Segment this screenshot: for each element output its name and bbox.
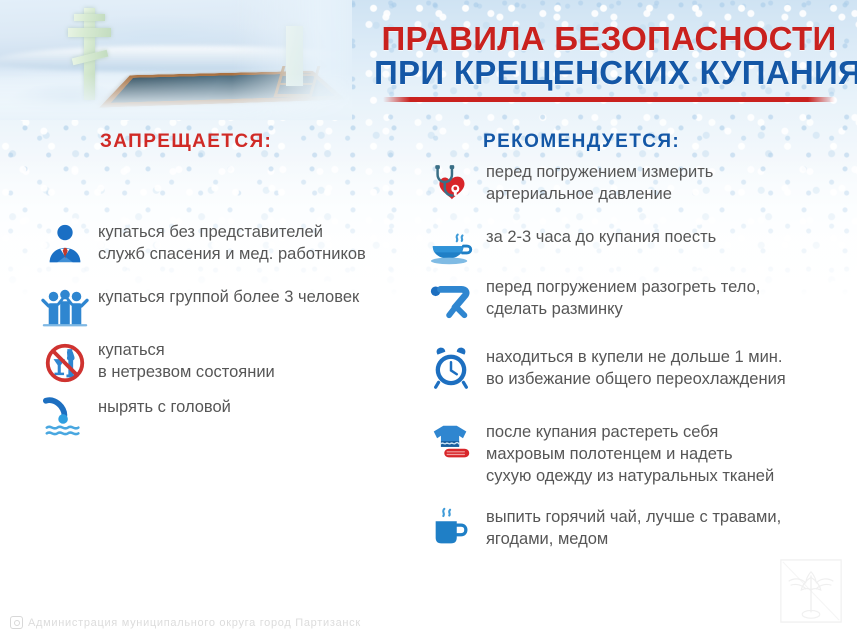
instagram-icon	[10, 616, 23, 629]
ice-hole-photo	[0, 0, 352, 120]
photo-fade-bottom	[0, 74, 352, 120]
no-alcohol-icon	[42, 340, 88, 386]
list-item: за 2-3 часа до купания поесть	[428, 225, 848, 271]
list-item: находиться в купели не дольше 1 мин. во …	[428, 345, 848, 391]
stretching-person-icon	[428, 275, 474, 321]
list-item-text: перед погружением измерить артериальное …	[486, 160, 713, 206]
list-item: купаться в нетрезвом состоянии	[42, 340, 412, 386]
list-item-text: выпить горячий чай, лучше с травами, яго…	[486, 505, 781, 551]
footer: Администрация муниципального округа горо…	[10, 616, 361, 629]
stethoscope-heart-icon	[428, 160, 474, 206]
diver-headfirst-icon	[42, 395, 88, 441]
list-item: после купания растереть себя махровым по…	[428, 420, 848, 488]
list-item-text: купаться без представителей служб спасен…	[98, 222, 366, 266]
poster-title: ПРАВИЛА БЕЗОПАСНОСТИ ПРИ КРЕЩЕНСКИХ КУПА…	[374, 22, 844, 102]
list-item-text: перед погружением разогреть тело, сделат…	[486, 275, 760, 321]
list-item: перед погружением измерить артериальное …	[428, 160, 848, 206]
list-item-text: нырять с головой	[98, 395, 231, 419]
list-item-text: купаться группой более 3 человек	[98, 285, 359, 309]
list-item-text: находиться в купели не дольше 1 мин. во …	[486, 345, 786, 391]
group-of-three-people-icon	[42, 285, 88, 331]
soup-bowl-icon	[428, 225, 474, 271]
title-line-1: ПРАВИЛА БЕЗОПАСНОСТИ	[374, 22, 844, 56]
sweater-and-towel-icon	[428, 420, 474, 466]
forbidden-heading: ЗАПРЕЩАЕТСЯ:	[100, 131, 272, 153]
businessman-icon	[42, 222, 88, 268]
advised-heading: РЕКОМЕНДУЕТСЯ:	[483, 131, 680, 153]
infographic-poster: ПРАВИЛА БЕЗОПАСНОСТИ ПРИ КРЕЩЕНСКИХ КУПА…	[0, 0, 857, 638]
title-underline	[383, 97, 835, 102]
list-item: выпить горячий чай, лучше с травами, яго…	[428, 505, 848, 551]
list-item-text: после купания растереть себя махровым по…	[486, 420, 774, 488]
hot-mug-icon	[428, 505, 474, 551]
list-item: перед погружением разогреть тело, сделат…	[428, 275, 848, 321]
list-item-text: за 2-3 часа до купания поесть	[486, 225, 716, 249]
coat-of-arms-watermark	[777, 556, 845, 626]
list-item: нырять с головой	[42, 395, 412, 441]
list-item-text: купаться в нетрезвом состоянии	[98, 340, 275, 384]
footer-text: Администрация муниципального округа горо…	[28, 617, 361, 629]
title-line-2: ПРИ КРЕЩЕНСКИХ КУПАНИЯХ	[374, 56, 844, 90]
alarm-clock-icon	[428, 345, 474, 391]
list-item: купаться группой более 3 человек	[42, 285, 412, 331]
list-item: купаться без представителей служб спасен…	[42, 222, 412, 268]
